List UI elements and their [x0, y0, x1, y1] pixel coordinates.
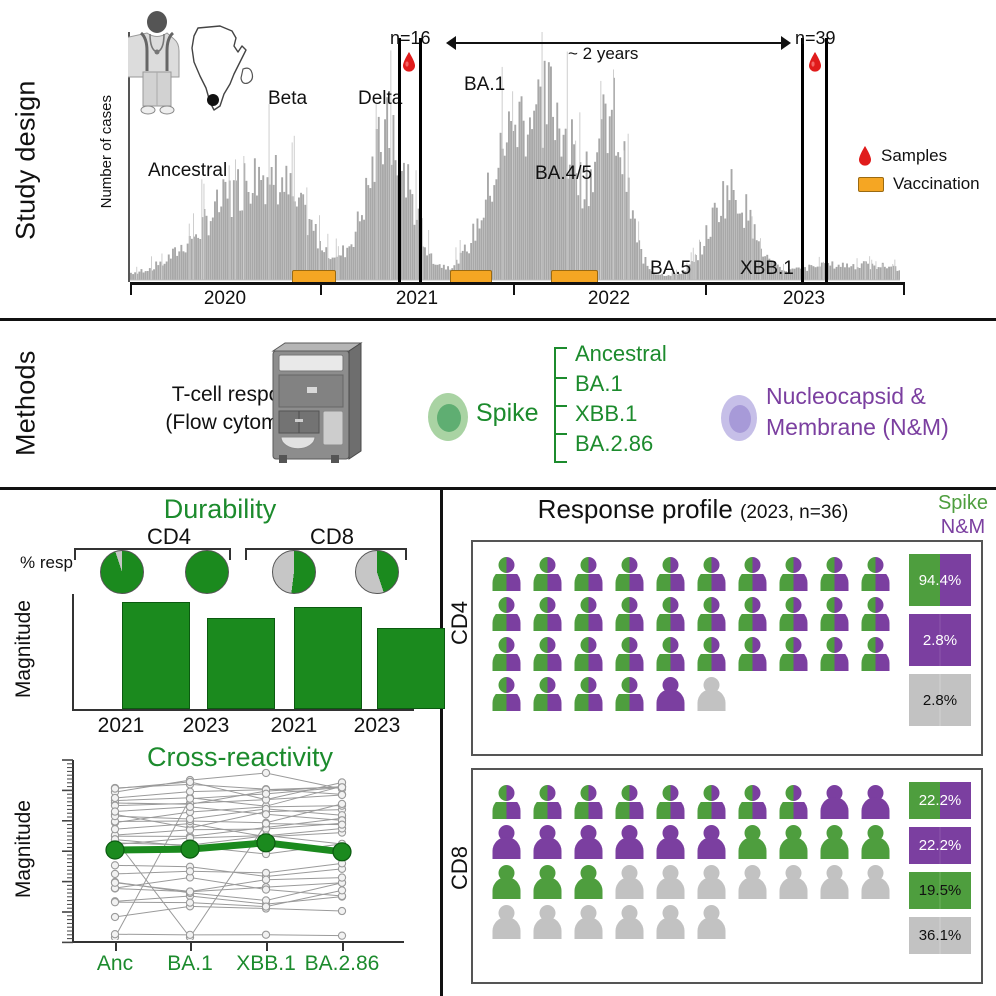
- person-icon-both: [778, 784, 809, 819]
- stat-column-cd4: 94.4%2.8%2.8%: [909, 554, 971, 734]
- pictogram-row: [491, 556, 891, 591]
- person-icon-both: [614, 676, 645, 711]
- person-icon-both: [696, 596, 727, 631]
- variant-brace: [551, 346, 571, 464]
- spike-label: Spike: [476, 399, 539, 428]
- person-icon-nm: [655, 824, 686, 859]
- bar-label-cd4-2023: 2023: [183, 714, 230, 738]
- response-box-cd4: 94.4%2.8%2.8%: [471, 540, 983, 756]
- person-icon-none: [491, 904, 522, 939]
- year-tick-2021: 2021: [396, 288, 438, 310]
- sample-line-right-2021: [419, 38, 422, 285]
- panel-label-study-design: Study design: [8, 50, 44, 270]
- pictogram-grid-cd8: [491, 784, 891, 944]
- stat-value: 22.2%: [919, 792, 962, 809]
- timeline-legend: Samples Vaccination: [858, 142, 980, 198]
- legend-label-samples: Samples: [881, 146, 947, 166]
- wave-label-beta: Beta: [268, 88, 307, 110]
- pictogram-row: [491, 676, 891, 711]
- cross-x-label-ba1: BA.1: [167, 952, 213, 976]
- person-icon-none: [696, 864, 727, 899]
- person-icon-both: [696, 636, 727, 671]
- person-icon-nm: [655, 676, 686, 711]
- sample-line-right-2023: [825, 38, 828, 285]
- person-icon-both: [614, 596, 645, 631]
- sample-count-2021: n=16: [390, 28, 431, 49]
- legend-label-vaccination: Vaccination: [893, 174, 980, 194]
- nm-label: Nucleocapsid & Membrane (N&M): [766, 381, 949, 443]
- purple-virus-particle-icon: [718, 393, 760, 443]
- person-icon-nm: [860, 784, 891, 819]
- wave-label-xbb1: XBB.1: [740, 258, 794, 280]
- cross-x-label-xbb1: XBB.1: [236, 952, 296, 976]
- person-icon-both: [778, 636, 809, 671]
- person-icon-nm: [491, 824, 522, 859]
- stat-box-nm: 22.2%: [909, 827, 971, 864]
- person-icon-none: [819, 864, 850, 899]
- person-icon-both: [532, 556, 563, 591]
- person-icon-none: [860, 864, 891, 899]
- response-profile-legend: Spike N&M: [938, 492, 988, 539]
- pictogram-row: [491, 596, 891, 631]
- wave-label-delta: Delta: [358, 88, 402, 110]
- year-tick-2023: 2023: [783, 288, 825, 310]
- person-icon-both: [614, 784, 645, 819]
- flow-cytometer-icon: [265, 337, 370, 467]
- stat-box-none: 2.8%: [909, 674, 971, 726]
- person-icon-both: [737, 596, 768, 631]
- person-icon-both: [491, 784, 522, 819]
- timeline-y-axis-label: Number of cases: [98, 95, 115, 208]
- person-icon-both: [491, 636, 522, 671]
- person-icon-both: [778, 556, 809, 591]
- bar-label-cd8-2021: 2021: [271, 714, 318, 738]
- stat-box-both: 94.4%: [909, 554, 971, 606]
- stat-value: 94.4%: [919, 572, 962, 589]
- cross-x-label-anc: Anc: [97, 952, 133, 976]
- person-icon-both: [491, 596, 522, 631]
- bar-cd4-2021: [122, 602, 190, 709]
- variant-ba286: BA.2.86: [575, 431, 653, 457]
- person-icon-both: [573, 556, 604, 591]
- person-icon-none: [532, 904, 563, 939]
- durability-y-axis-label: Magnitude: [12, 600, 36, 698]
- person-icon-both: [737, 784, 768, 819]
- legend-spike: Spike: [938, 492, 988, 516]
- epidemic-curve: [130, 32, 900, 282]
- stat-value: 22.2%: [919, 837, 962, 854]
- variant-ba1: BA.1: [575, 371, 623, 397]
- sample-line-left-2021: [398, 38, 401, 285]
- pct-resp-label: % resp: [20, 553, 73, 573]
- person-icon-nm: [819, 784, 850, 819]
- row-label-cd8: CD8: [447, 830, 473, 890]
- person-icon-both: [819, 636, 850, 671]
- arrow-head-left: [446, 36, 456, 50]
- legend-nm: N&M: [938, 516, 988, 540]
- panel-study-design: Study design Number of cases: [0, 0, 996, 318]
- group-label-cd8: CD8: [310, 524, 354, 550]
- response-profile-subtitle: (2023, n=36): [740, 502, 848, 523]
- interval-label: ~ 2 years: [568, 44, 638, 64]
- green-virus-particle-icon: [425, 391, 471, 443]
- panel-label-methods: Methods: [8, 343, 44, 463]
- sample-count-2023: n=39: [795, 28, 836, 49]
- pie-cd4-2021: [100, 550, 144, 594]
- blood-drop-icon: [858, 146, 872, 166]
- panel-response-profile: Response profile (2023, n=36) Spike N&M …: [443, 490, 996, 996]
- pictogram-row: [491, 904, 891, 939]
- person-icon-none: [737, 864, 768, 899]
- pictogram-row: [491, 824, 891, 859]
- person-icon-both: [614, 636, 645, 671]
- variant-ancestral: Ancestral: [575, 341, 667, 367]
- stat-box-none: 36.1%: [909, 917, 971, 954]
- person-icon-none: [655, 864, 686, 899]
- person-icon-both: [860, 556, 891, 591]
- pictogram-grid-cd4: [491, 556, 891, 716]
- stat-box-spike: 19.5%: [909, 872, 971, 909]
- person-icon-both: [696, 784, 727, 819]
- person-icon-none: [655, 904, 686, 939]
- crossreactivity-y-ticks: [60, 756, 74, 946]
- stat-box-both: 22.2%: [909, 782, 971, 819]
- person-icon-both: [614, 556, 645, 591]
- person-icon-both: [573, 784, 604, 819]
- nm-line-2: Membrane (N&M): [766, 412, 949, 443]
- person-icon-both: [819, 596, 850, 631]
- person-icon-both: [655, 636, 686, 671]
- person-icon-both: [573, 636, 604, 671]
- timeline-x-axis: [130, 282, 905, 285]
- person-icon-both: [819, 556, 850, 591]
- response-profile-title-main: Response profile: [538, 494, 733, 524]
- durability-x-axis: [72, 709, 414, 711]
- person-icon-none: [614, 864, 645, 899]
- stat-value: 2.8%: [923, 692, 957, 709]
- bar-label-cd4-2021: 2021: [98, 714, 145, 738]
- group-label-cd4: CD4: [147, 524, 191, 550]
- nm-line-1: Nucleocapsid &: [766, 381, 949, 412]
- pictogram-row: [491, 636, 891, 671]
- cross-x-label-ba286: BA.2.86: [305, 952, 380, 976]
- person-icon-both: [573, 676, 604, 711]
- person-icon-spike: [778, 824, 809, 859]
- person-icon-both: [737, 636, 768, 671]
- person-icon-spike: [573, 864, 604, 899]
- wave-label-ba1: BA.1: [464, 74, 505, 96]
- blood-drop-icon: [808, 52, 822, 72]
- year-tick-2020: 2020: [204, 288, 246, 310]
- person-icon-spike: [532, 864, 563, 899]
- person-icon-spike: [491, 864, 522, 899]
- person-icon-both: [860, 596, 891, 631]
- panel-durability-crossreactivity: Durability CD4 CD8 % resp Magnitude 2021…: [0, 490, 440, 996]
- person-icon-both: [696, 556, 727, 591]
- figure-root: Study design Number of cases: [0, 0, 996, 996]
- bar-cd4-2023: [207, 618, 275, 709]
- pie-cd8-2023: [355, 550, 399, 594]
- person-icon-nm: [614, 824, 645, 859]
- response-profile-title: Response profile (2023, n=36): [463, 494, 923, 525]
- response-box-cd8: 22.2%22.2%19.5%36.1%: [471, 768, 983, 984]
- bar-cd8-2021: [294, 607, 362, 709]
- person-icon-both: [655, 596, 686, 631]
- durability-bars: [72, 594, 412, 709]
- pie-cd4-2023: [185, 550, 229, 594]
- variant-xbb1: XBB.1: [575, 401, 637, 427]
- stat-value: 19.5%: [919, 882, 962, 899]
- bar-label-cd8-2023: 2023: [354, 714, 401, 738]
- pie-cd8-2021: [272, 550, 316, 594]
- person-icon-none: [778, 864, 809, 899]
- stat-value: 2.8%: [923, 632, 957, 649]
- person-icon-none: [614, 904, 645, 939]
- person-icon-both: [655, 784, 686, 819]
- year-tick-2022: 2022: [588, 288, 630, 310]
- person-icon-spike: [737, 824, 768, 859]
- durability-title: Durability: [0, 494, 440, 525]
- stat-value: 36.1%: [919, 927, 962, 944]
- crossreactivity-x-axis: [72, 941, 404, 943]
- vaccine-bar-icon: [858, 177, 884, 192]
- person-icon-none: [573, 904, 604, 939]
- person-icon-nm: [573, 824, 604, 859]
- person-icon-both: [491, 676, 522, 711]
- person-icon-both: [573, 596, 604, 631]
- wave-label-ba45: BA.4/5: [535, 163, 592, 185]
- arrow-head-right: [781, 36, 791, 50]
- wave-label-ba5: BA.5: [650, 258, 691, 280]
- person-icon-both: [655, 556, 686, 591]
- blood-drop-icon: [402, 52, 416, 72]
- person-icon-both: [778, 596, 809, 631]
- crossreactivity-plot: [72, 760, 402, 940]
- pictogram-row: [491, 784, 891, 819]
- person-icon-nm: [696, 824, 727, 859]
- bar-cd8-2023: [377, 628, 445, 709]
- person-icon-none: [696, 676, 727, 711]
- person-icon-both: [532, 636, 563, 671]
- person-icon-nm: [532, 824, 563, 859]
- pictogram-row: [491, 864, 891, 899]
- person-icon-both: [860, 636, 891, 671]
- stat-box-nm: 2.8%: [909, 614, 971, 666]
- wave-label-ancestral: Ancestral: [148, 160, 227, 182]
- person-icon-both: [532, 784, 563, 819]
- panel-methods: Methods T-cell response (Flow cytometry)…: [0, 321, 996, 487]
- person-icon-both: [532, 676, 563, 711]
- person-icon-spike: [819, 824, 850, 859]
- row-label-cd4: CD4: [447, 585, 473, 645]
- person-icon-both: [737, 556, 768, 591]
- person-icon-both: [491, 556, 522, 591]
- crossreactivity-y-axis-label: Magnitude: [12, 800, 36, 898]
- person-icon-spike: [860, 824, 891, 859]
- sample-line-left-2023: [801, 38, 804, 285]
- stat-column-cd8: 22.2%22.2%19.5%36.1%: [909, 782, 971, 962]
- person-icon-none: [696, 904, 727, 939]
- person-icon-both: [532, 596, 563, 631]
